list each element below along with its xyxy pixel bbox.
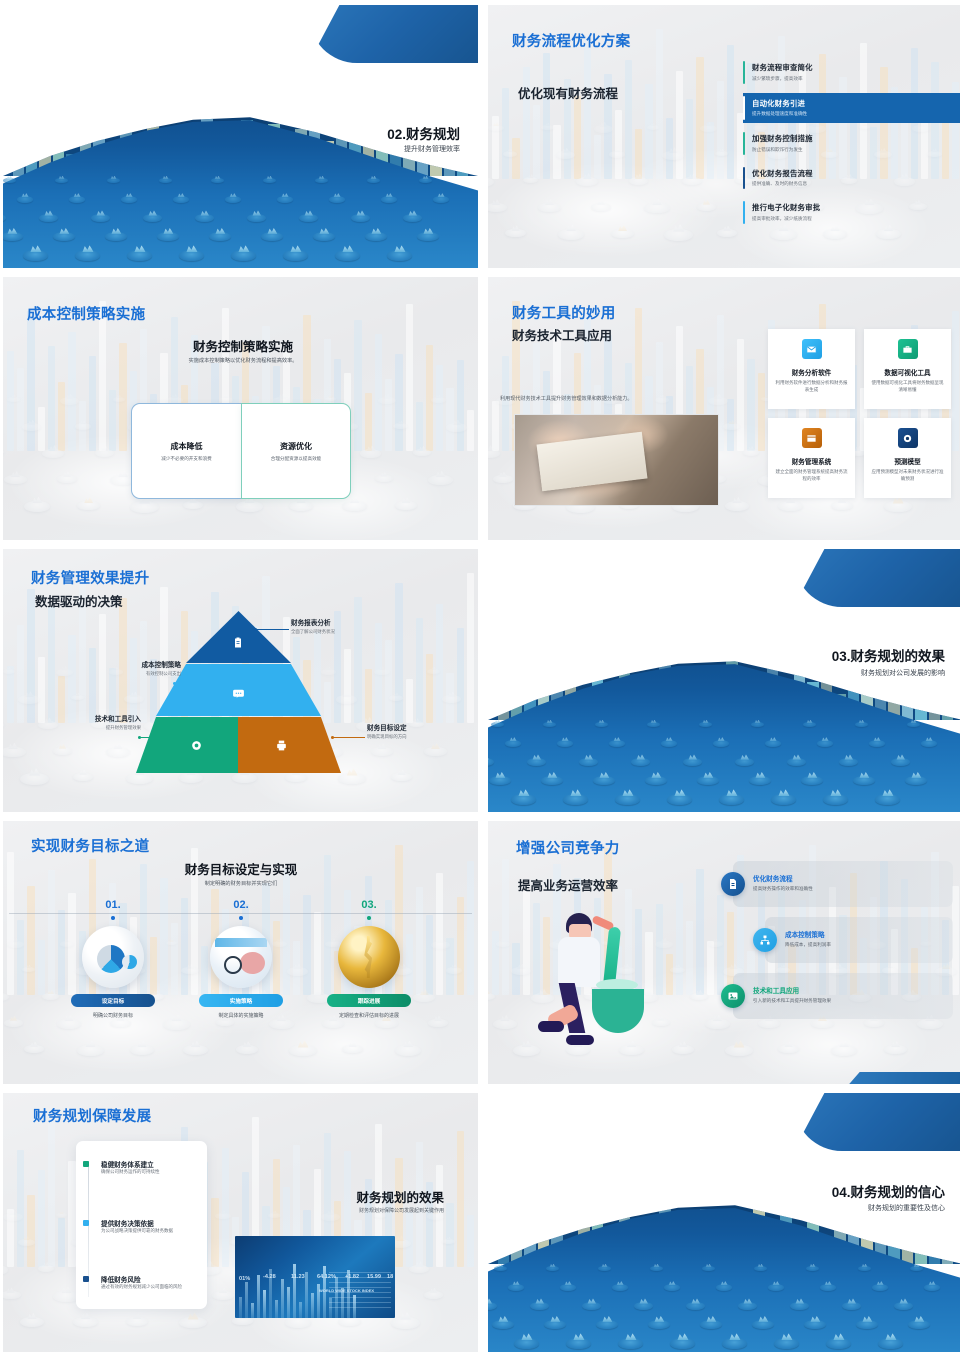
timeline-desc: 通过有效的财务规划减少公司面临的风险 [101,1284,201,1291]
tool-desc: 建立全面的财务管理系统提高财务流程的效率 [774,469,849,482]
list-item[interactable]: 加强财务控制措施 防止错误和欺诈行为发生 [743,129,949,158]
step-desc: 明确公司财务目标 [49,1013,177,1021]
connector-line [333,737,365,738]
timeline-desc: 为公司战略决策提供可靠的财务数据 [101,1228,201,1235]
briefcase-icon [898,339,918,359]
divider-title: 03.财务规划的效果 [832,645,945,665]
page-subtitle: 优化现有财务流程 [518,83,618,102]
timeline-card: 稳健财务体系建立 确保公司财务运作的可持续性 提供财务决策依据 为公司战略决策提… [76,1141,207,1309]
center-subtitle: 实施成本控制策略以优化财务流程和提高效率。 [83,357,403,364]
divider-title: 04.财务规划的信心 [832,1181,945,1201]
benefit-row-tools[interactable]: 技术和工具应用 引入新的技术和工具提升财务管理效果 [721,973,953,1019]
pyramid-diagram [136,611,341,774]
tool-title: 财务管理系统 [774,456,849,466]
benefit-row-group: 优化财务流程 提高财务操作的效率和准确性 成本控制策略 降低成本，提高利润率 [721,861,953,1029]
slide-deck: 02.财务规划 提升财务管理效率 财务流程优化方案 优化现有财务流程 财务流程审… [0,0,960,1352]
page-subtitle: 提高业务运营效率 [518,875,618,894]
row-desc: 降低成本，提高利润率 [785,942,831,948]
divider-subtitle: 财务规划对公司发展的影响 [861,668,945,678]
pyramid-label-report-analysis: 财务报表分析 全面了解公司财务状况 [291,617,335,635]
stock-chart-photo: 01% -4.28 11.23 64.12% +1.82 15.99 18 WO… [235,1236,395,1318]
status-square [83,1220,89,1226]
tool-desc: 利用财务软件进行数据分析和财务报表生成 [774,380,849,393]
step-pill-label: 实施策略 [199,994,283,1007]
row-title: 技术和工具应用 [753,985,831,995]
row-title: 优化财务流程 [753,873,813,883]
camera-icon [188,737,204,753]
slide-management-effect[interactable]: 财务管理效果提升 数据驱动的决策 财务报表分析 全面了解公司财务状况 [3,549,478,812]
photo-number: 01% [239,1276,250,1282]
slide-cost-control[interactable]: 成本控制策略实施 财务控制策略实施 实施成本控制策略以优化财务流程和提高效率。 … [3,277,478,540]
page-title: 财务工具的妙用 [512,302,616,323]
center-title: 财务控制策略实施 [83,336,403,355]
tool-title: 预测模型 [870,456,945,466]
pyramid-layer-3-right[interactable] [238,717,341,773]
pie-chart-photo [82,926,144,988]
connector-dot [173,682,176,685]
corner-decor [794,1093,960,1151]
list-item[interactable]: 优化财务报告流程 提供准确、及时的财务信息 [743,164,949,193]
center-title: 财务目标设定与实现 [61,859,421,878]
slide-goal-achievement[interactable]: 实现财务目标之道 财务目标设定与实现 制定明确的财务目标并实现它们 01. 设定… [3,821,478,1084]
iceberg-pods [3,176,478,268]
list-item-title: 推行电子化财务审批 [752,202,949,213]
step-dot [111,916,115,920]
list-item-title: 加强财务控制措施 [752,133,949,144]
card-cost-reduction[interactable]: 成本降低 减少不必要的开支和浪费 [131,403,241,499]
step-03[interactable]: 03. 跟踪进展 定期检查和评估目标的进展 [305,899,433,1020]
accent-bar [743,132,745,155]
row-desc: 引入新的技术和工具提升财务管理效果 [753,998,831,1004]
process-list: 财务流程审查简化 减少繁琐步骤，提高效率 自动化财务引进 提升数据处理速度和准确… [743,58,949,233]
image-icon [721,984,745,1008]
accent-bar [743,96,745,121]
tool-desc: 使用数据可视化工具将财务数据呈现清晰易懂 [870,380,945,393]
status-square [83,1161,89,1167]
corner-decor [309,5,478,63]
label-title: 财务报表分析 [291,617,335,627]
tool-title: 财务分析软件 [774,367,849,377]
list-item-desc: 减少繁琐步骤，提高效率 [752,76,949,82]
pyramid-label-cost-control: 成本控制策略 有效控制公司支出 [71,659,181,677]
iceberg-pods [488,1264,960,1352]
slide-finance-tools[interactable]: 财务工具的妙用 财务技术工具应用 利用现代财务技术工具提升财务管理效果和数据分析… [488,277,960,540]
slide-section-04[interactable]: 04.财务规划的信心 财务规划的重要性及信心 [488,1093,960,1352]
step-group: 01. 设定目标 明确公司财务目标 02. 实施策略 制定具体的实施策略 [3,881,478,1031]
status-square [83,1276,89,1282]
label-title: 成本控制策略 [71,659,181,669]
page-title: 实现财务目标之道 [31,835,149,856]
label-desc: 全面了解公司财务状况 [291,629,335,635]
benefit-row-optimize[interactable]: 优化财务流程 提高财务操作的效率和准确性 [721,861,953,907]
card-title: 成本降低 [171,441,203,452]
magnifier-report-photo [210,926,272,988]
list-item-desc: 提供准确、及时的财务信息 [752,181,949,187]
gold-dollar-photo [338,926,400,988]
list-item-desc: 提高审批效率，减少纸质流程 [752,216,949,222]
tool-title: 数据可视化工具 [870,367,945,377]
slide-section-03[interactable]: 03.财务规划的效果 财务规划对公司发展的影响 [488,549,960,812]
benefit-row-cost[interactable]: 成本控制策略 降低成本，提高利润率 [721,917,953,963]
list-item[interactable]: 推行电子化财务审批 提高审批效率，减少纸质流程 [743,198,949,227]
target-icon [898,428,918,448]
slide-planning-guarantee[interactable]: 财务规划保障发展 稳健财务体系建立 确保公司财务运作的可持续性 提供财务决策依据… [3,1093,478,1352]
tool-card-forecast-model[interactable]: 预测模型 应用预测模型对未来财务状况进行准确预测 [864,418,951,498]
timeline-title: 稳健财务体系建立 [101,1159,154,1169]
iceberg-pods [488,720,960,812]
timeline-title: 提供财务决策依据 [101,1218,154,1228]
slide-competitiveness[interactable]: 增强公司竞争力 提高业务运营效率 优化财务流程 提高财务 [488,821,960,1084]
team-reviewing-documents-photo [514,414,719,506]
step-desc: 定期检查和评估目标的进展 [305,1013,433,1021]
page-title: 财务规划保障发展 [33,1105,151,1126]
step-02[interactable]: 02. 实施策略 制定具体的实施策略 [177,899,305,1020]
photo-grid [329,1272,391,1312]
pyramid-label-goal-setting: 财务目标设定 明确实现目标的方向 [367,722,407,740]
divider-subtitle: 财务规划的重要性及信心 [868,1203,945,1213]
step-number: 02. [177,899,305,911]
card-desc: 合理分配资源以提高效能 [271,456,322,462]
step-number: 03. [305,899,433,911]
chat-icon [230,685,246,701]
card-title: 资源优化 [280,441,312,452]
step-01[interactable]: 01. 设定目标 明确公司财务目标 [49,899,177,1020]
card-desc: 减少不必要的开支和浪费 [161,456,212,462]
pyramid-layer-3-left[interactable] [136,717,238,773]
label-desc: 提升财务管理效果 [45,725,141,731]
list-item-title: 优化财务报告流程 [752,168,949,179]
document-icon [721,872,745,896]
connector-line [256,629,289,630]
page-title: 财务管理效果提升 [31,567,149,588]
card-group: 成本降低 减少不必要的开支和浪费 资源优化 合理分配资源以提高效能 [131,403,351,499]
page-title: 成本控制策略实施 [27,303,145,324]
sitemap-icon [753,928,777,952]
list-item-active[interactable]: 自动化财务引进 提升数据处理速度和准确性 [743,93,960,124]
label-title: 财务目标设定 [367,722,407,732]
row-text: 成本控制策略 降低成本，提高利润率 [785,929,831,948]
label-title: 技术和工具引入 [45,713,141,723]
connector-line [175,683,203,684]
row-title: 成本控制策略 [785,929,831,939]
timeline-desc: 确保公司财务运作的可持续性 [101,1169,201,1176]
slide-process-optimization[interactable]: 财务流程优化方案 优化现有财务流程 财务流程审查简化 减少繁琐步骤，提高效率 自… [488,5,960,268]
window-icon [802,428,822,448]
page-title: 财务流程优化方案 [512,30,630,51]
connector-dot [254,628,257,631]
corner-decor [794,549,960,607]
connector-dot [331,736,334,739]
row-text: 优化财务流程 提高财务操作的效率和准确性 [753,873,813,892]
right-subtitle: 财务规划对保障公司发展起到关键作用 [359,1207,444,1214]
list-item-title: 财务流程审查简化 [752,62,949,73]
step-dot [367,916,371,920]
clipboard-icon [230,635,246,651]
step-dot [239,916,243,920]
label-desc: 明确实现目标的方向 [367,734,407,740]
divider-subtitle: 提升财务管理效率 [404,144,460,154]
lead-paragraph: 利用现代财务技术工具提升财务管理效果和数据分析能力。 [500,395,700,402]
page-title: 增强公司竞争力 [516,837,620,858]
accent-bar [743,167,745,190]
tool-card-analysis-software[interactable]: 财务分析软件 利用财务软件进行数据分析和财务报表生成 [768,329,855,409]
page-subtitle: 财务技术工具应用 [512,325,612,344]
card-resource-optimization[interactable]: 资源优化 合理分配资源以提高效能 [241,403,351,499]
tool-desc: 应用预测模型对未来财务状况进行准确预测 [870,469,945,482]
connector-dot [138,736,141,739]
person-pouring-flask-illustration [536,913,666,1063]
tool-card-management-system[interactable]: 财务管理系统 建立全面的财务管理系统提高财务流程的效率 [768,418,855,498]
accent-bar [743,61,745,84]
tool-card-grid: 财务分析软件 利用财务软件进行数据分析和财务报表生成 数据可视化工具 使用数据可… [768,329,951,498]
page-subtitle: 数据驱动的决策 [35,591,123,610]
step-number: 01. [49,899,177,911]
step-desc: 制定具体的实施策略 [177,1013,305,1021]
step-pill-label: 设定目标 [71,994,155,1007]
tool-card-data-visualization[interactable]: 数据可视化工具 使用数据可视化工具将财务数据呈现清晰易懂 [864,329,951,409]
list-item[interactable]: 财务流程审查简化 减少繁琐步骤，提高效率 [743,58,949,87]
connector-line [141,737,171,738]
row-desc: 提高财务操作的效率和准确性 [753,886,813,892]
label-desc: 有效控制公司支出 [71,671,181,677]
pyramid-label-tools: 技术和工具引入 提升财务管理效果 [45,713,141,731]
printer-icon [273,737,289,753]
mail-icon [802,339,822,359]
divider-title: 02.财务规划 [387,123,460,143]
photo-number: -4.28 [263,1274,276,1280]
accent-bar [743,201,745,224]
list-item-desc: 防止错误和欺诈行为发生 [752,147,949,153]
step-pill-label: 跟踪进展 [327,994,411,1007]
right-title: 财务规划的效果 [356,1187,444,1206]
slide-section-02[interactable]: 02.财务规划 提升财务管理效率 [3,5,478,268]
photo-number: 11.23 [291,1274,305,1280]
list-item-title: 自动化财务引进 [752,98,960,109]
timeline-title: 降低财务风险 [101,1274,141,1284]
row-text: 技术和工具应用 引入新的技术和工具提升财务管理效果 [753,985,831,1004]
list-item-desc: 提升数据处理速度和准确性 [752,111,960,117]
